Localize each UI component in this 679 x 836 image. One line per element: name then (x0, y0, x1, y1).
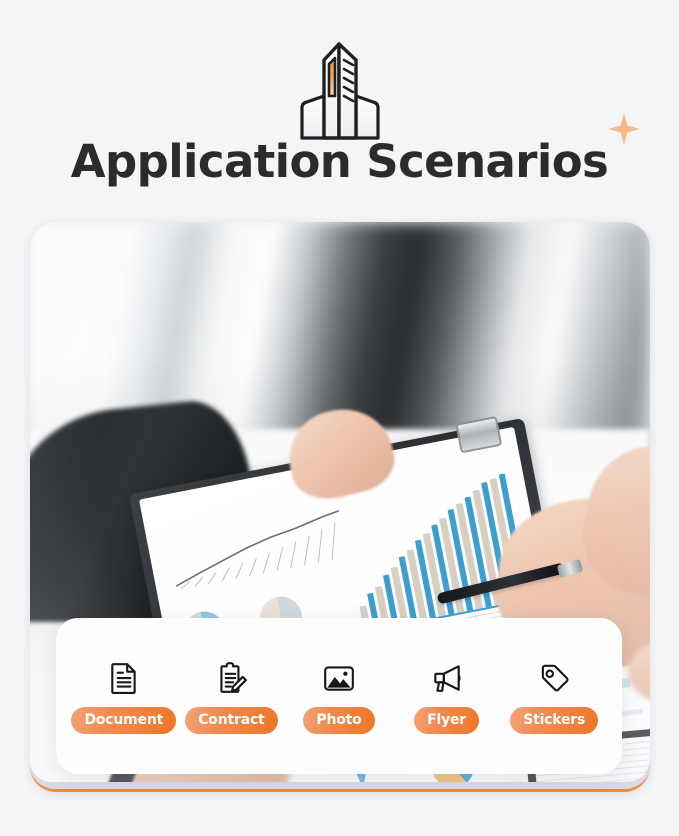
category-label-photo[interactable]: Photo (303, 707, 374, 734)
megaphone-icon (427, 658, 467, 698)
building-icon (280, 34, 400, 142)
tag-icon (534, 658, 574, 698)
category-item-stickers[interactable]: Stickers (502, 658, 606, 734)
page-header: Application Scenarios (0, 0, 679, 212)
category-item-document[interactable]: Document (72, 658, 176, 734)
category-item-flyer[interactable]: Flyer (395, 658, 499, 734)
category-label-stickers[interactable]: Stickers (510, 707, 598, 734)
photo-chart-trendline (165, 507, 350, 592)
category-item-contract[interactable]: Contract (179, 658, 283, 734)
page-title: Application Scenarios (71, 139, 608, 184)
sparkle-icon (606, 111, 642, 147)
category-label-flyer[interactable]: Flyer (414, 707, 479, 734)
category-card: Document Contract Photo (56, 618, 622, 774)
category-label-contract[interactable]: Contract (185, 707, 277, 734)
image-icon (319, 658, 359, 698)
category-item-photo[interactable]: Photo (287, 658, 391, 734)
category-label-document[interactable]: Document (71, 707, 176, 734)
document-icon (104, 658, 144, 698)
title-row: Application Scenarios (71, 139, 608, 184)
clipboard-pencil-icon (211, 658, 251, 698)
